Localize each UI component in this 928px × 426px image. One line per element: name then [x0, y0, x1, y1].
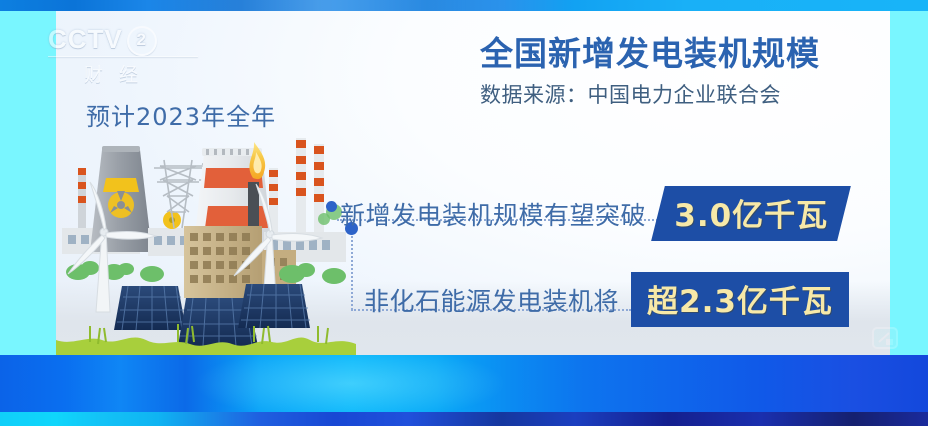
page-title: 全国新增发电装机规模	[480, 36, 880, 72]
cctv-channel-number: 2	[127, 26, 157, 56]
top-accent-sheen	[150, 0, 570, 11]
data-row-2-label: 非化石能源发电装机将	[364, 282, 619, 318]
cctv-wordmark-text: CCTV	[48, 24, 123, 54]
data-row-2-badge: 超2.3亿千瓦	[631, 272, 849, 327]
connector-dot-primary	[326, 201, 337, 212]
broadcast-frame: CCTV2 财经 全国新增发电装机规模 数据来源：中国电力企业联合会 预计202…	[0, 0, 928, 426]
right-chimneys	[269, 138, 324, 242]
small-chimney-left	[78, 168, 86, 230]
bottom-accent-bar	[0, 355, 928, 426]
power-generation-illustration	[56, 120, 356, 356]
illustration-svg	[56, 120, 356, 356]
headline-block: 全国新增发电装机规模 数据来源：中国电力企业联合会	[480, 36, 880, 109]
cctv-divider-line	[48, 56, 198, 57]
bottom-accent-lower-strip	[0, 412, 928, 426]
bottom-accent-glow	[170, 355, 530, 412]
right-cyan-rail	[890, 11, 928, 355]
data-row-2: 非化石能源发电装机将 超2.3亿千瓦	[364, 272, 849, 327]
screenshot-icon[interactable]	[868, 324, 902, 354]
cctv-channel-name: 财经	[84, 60, 154, 87]
data-source-label: 数据来源：中国电力企业联合会	[480, 79, 880, 109]
cctv-wordmark: CCTV2	[48, 26, 198, 56]
cctv-logo-watermark: CCTV2 财经	[48, 26, 198, 88]
data-row-1-value: 3.0亿千瓦	[674, 190, 828, 235]
top-accent-bar	[0, 0, 928, 11]
data-row-1: 新增发电装机规模有望突破 3.0亿千瓦	[340, 186, 844, 241]
leader-line-vertical	[351, 232, 353, 310]
data-row-1-badge: 3.0亿千瓦	[651, 186, 851, 241]
data-row-2-value: 超2.3亿千瓦	[647, 284, 833, 320]
data-row-1-label: 新增发电装机规模有望突破	[340, 196, 646, 232]
